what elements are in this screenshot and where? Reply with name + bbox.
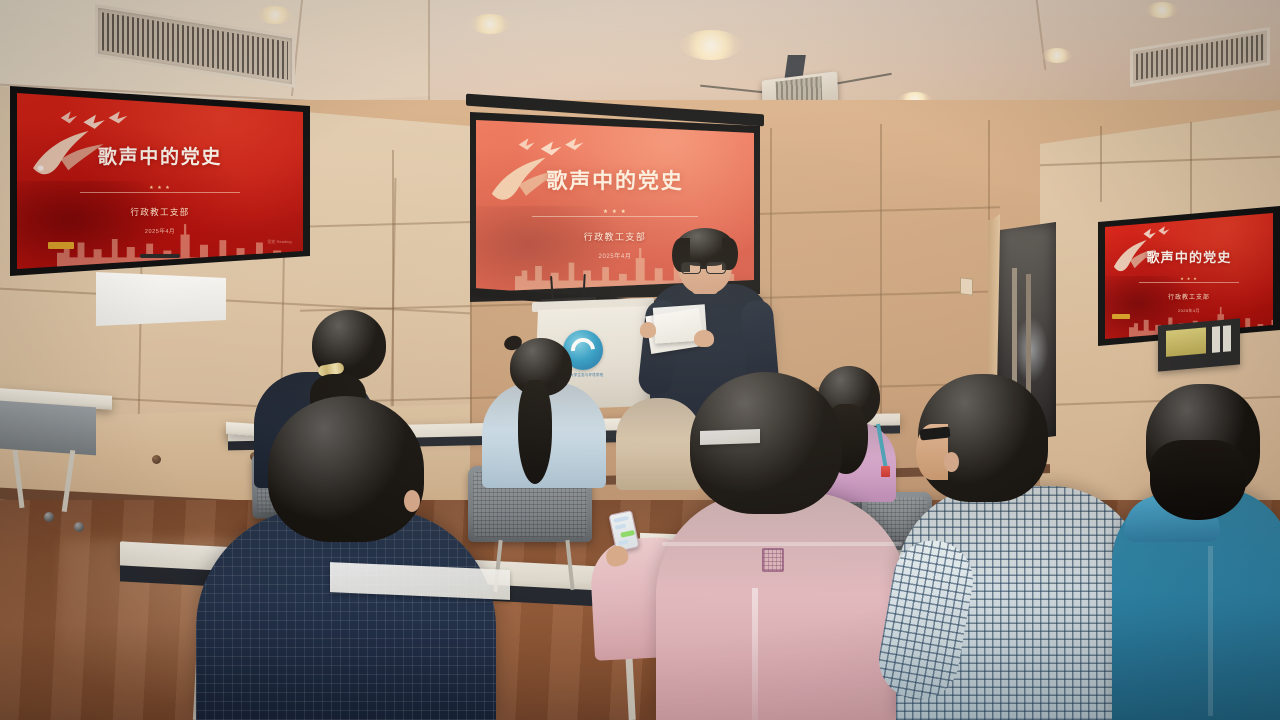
slide-divider: [532, 216, 699, 217]
chat-bubble: [618, 539, 629, 545]
wall-control-panel[interactable]: [1158, 318, 1240, 371]
tv-brand-logo: [1112, 314, 1130, 319]
presenter-hand: [694, 330, 714, 347]
slide-right: 歌声中的党史 ★ ★ ★ 行政教工支部 2025年4月: [1105, 213, 1273, 339]
chat-bubble: [613, 516, 629, 523]
glasses-bridge: [700, 266, 707, 269]
control-panel-button[interactable]: [1212, 326, 1220, 353]
attendee-ear: [944, 452, 959, 472]
embroidered-patch: [762, 548, 784, 572]
slide-divider: [1139, 282, 1240, 283]
chat-bubble: [615, 524, 627, 530]
attendee-torso: [1112, 488, 1280, 720]
control-panel-display: [1166, 327, 1206, 356]
chat-bubble: [620, 530, 635, 538]
jacket-seam: [1208, 546, 1213, 716]
downlight-icon: [1146, 2, 1178, 18]
jacket-yoke-seam: [662, 542, 902, 546]
slide-stars: ★ ★ ★: [1105, 276, 1273, 281]
slide-subtitle: 行政教工支部: [17, 206, 303, 218]
control-panel-button[interactable]: [1223, 325, 1231, 352]
attendee-ear: [404, 490, 420, 512]
slide-date: 2025年4月: [1105, 308, 1273, 314]
attendee-torso: [656, 492, 908, 720]
table-paper: [700, 429, 760, 445]
downlight-icon: [680, 30, 742, 60]
slide-stars: ★ ★ ★: [17, 185, 303, 191]
glasses-lens-left: [681, 262, 701, 274]
wall-panel-seam: [988, 120, 990, 220]
slide-title: 歌声中的党史: [17, 142, 303, 169]
tv-brand-logo: [48, 242, 74, 249]
presenter-hand: [640, 322, 656, 338]
cabinet-knob[interactable]: [152, 455, 161, 464]
attendee-long-hair: [1150, 440, 1246, 520]
id-badge: [881, 466, 890, 477]
glasses-lens-right: [706, 262, 726, 274]
table-caster: [74, 522, 84, 532]
slide-title: 歌声中的党史: [1105, 247, 1273, 266]
table-modesty-panel: [0, 401, 96, 456]
attendee-head: [268, 396, 424, 542]
light-switch[interactable]: [960, 277, 973, 295]
shading: [656, 492, 908, 720]
meeting-room-photo: 歌声中的党史 ★ ★ ★ 行政教工支部 2025年4月 党史 Reading: [0, 0, 1280, 720]
attendee-ponytail: [518, 380, 552, 484]
doorway-light: [1014, 318, 1048, 382]
tv-bezel: 歌声中的党史 ★ ★ ★ 行政教工支部 2025年4月: [1105, 213, 1273, 339]
wall-panel-seam: [1190, 122, 1192, 214]
downlight-icon: [258, 6, 292, 24]
storage-rack: [1026, 274, 1031, 394]
wall-panel-seam: [1100, 126, 1102, 202]
slide-subtitle: 行政教工支部: [1105, 292, 1273, 301]
slide-divider: [80, 192, 240, 193]
wall-panel-seam: [880, 124, 882, 424]
whiteboard: [96, 272, 226, 326]
tv-brand-bar: [140, 254, 180, 258]
table-caster: [44, 512, 54, 522]
shading: [268, 396, 424, 542]
downlight-icon: [1042, 48, 1072, 63]
ceiling-seam: [428, 0, 430, 104]
jacket-center-pleat: [752, 588, 758, 720]
slide-title: 歌声中的党史: [476, 165, 754, 195]
slide-date: 2025年4月: [17, 227, 303, 235]
slide-corner-note: 党史 Reading: [268, 239, 292, 244]
slide-stars: ★ ★ ★: [476, 209, 754, 215]
downlight-icon: [470, 14, 510, 34]
left-wall-tv[interactable]: 歌声中的党史 ★ ★ ★ 行政教工支部 2025年4月 党史 Reading: [10, 86, 310, 276]
storage-rack: [1012, 268, 1017, 394]
